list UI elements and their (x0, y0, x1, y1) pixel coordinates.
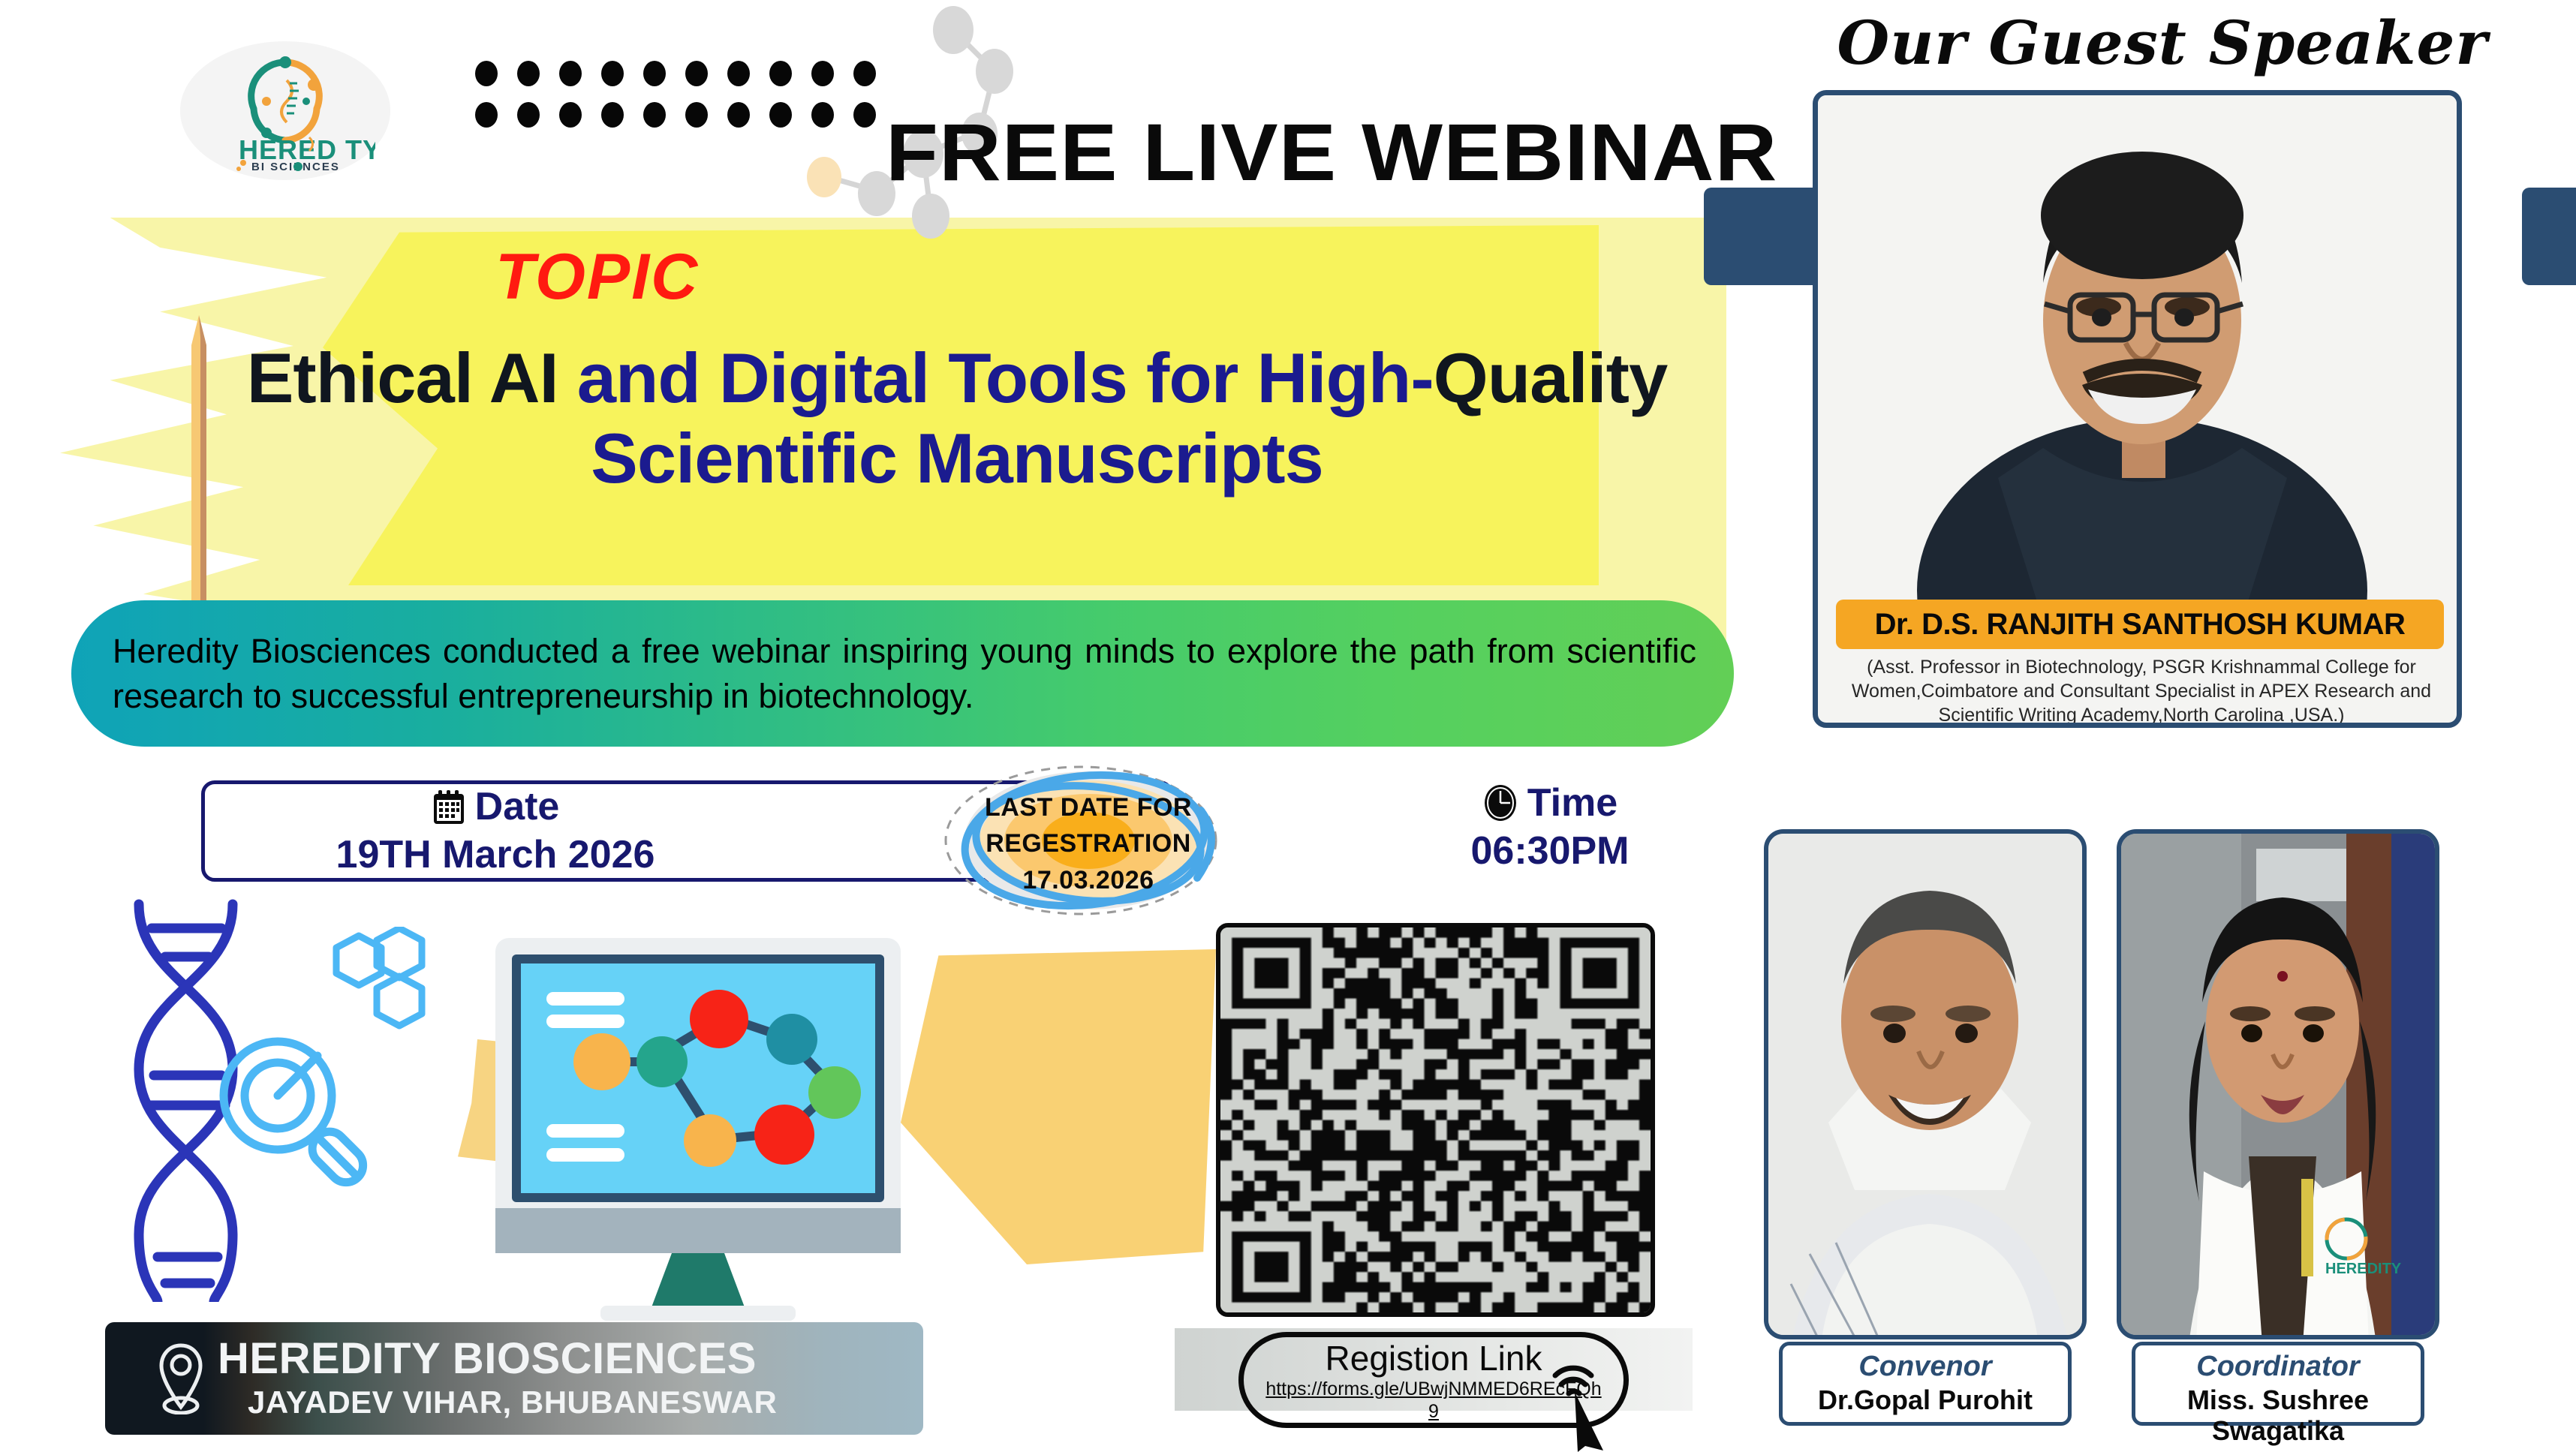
last-date-badge: LAST DATE FOR REGESTRATION 17.03.2026 (848, 765, 1336, 915)
convenor-role-card: Convenor Dr.Gopal Purohit (1779, 1342, 2072, 1426)
last-date-line-3: 17.03.2026 (946, 862, 1231, 898)
title-segment-4: Scientific Manuscripts (591, 419, 1323, 498)
title-segment-2: and Digital Tools for High- (577, 338, 1434, 417)
last-date-text: LAST DATE FOR REGESTRATION 17.03.2026 (946, 789, 1231, 898)
footer-bar: HEREDITY BIOSCIENCES JAYADEV VIHAR, BHUB… (105, 1322, 923, 1435)
decorative-dot-grid (465, 53, 886, 135)
description-text: Heredity Biosciences conducted a free we… (113, 629, 1696, 718)
monitor-network-illustration (488, 923, 908, 1321)
location-pin-icon (158, 1342, 204, 1414)
footer-org-name: HEREDITY BIOSCIENCES (218, 1336, 777, 1381)
speaker-portrait-illustration (1818, 95, 2462, 621)
speaker-photo (1818, 95, 2462, 621)
speaker-credentials: (Asst. Professor in Biotechnology, PSGR … (1837, 655, 2445, 727)
footer-address: JAYADEV VIHAR, BHUBANESWAR (248, 1384, 777, 1420)
title-segment-1: Ethical AI (247, 338, 577, 417)
logo-emblem-icon: HERED TY BI SCIENCES (195, 49, 375, 173)
poster-left-panel: HERED TY BI SCIENCES FREE LIVE WEBINAR (0, 0, 1749, 1442)
footer-text-block: HEREDITY BIOSCIENCES JAYADEV VIHAR, BHUB… (218, 1336, 777, 1421)
magnifier-icon (206, 1024, 379, 1204)
date-label: Date (475, 784, 560, 829)
time-value: 06:30PM (1389, 828, 1711, 873)
time-label: Time (1527, 780, 1618, 825)
last-date-line-1: LAST DATE FOR (946, 789, 1231, 825)
convenor-role-label: Convenor (1783, 1351, 2068, 1383)
convenor-portrait-illustration (1768, 834, 2087, 1339)
date-value: 19TH March 2026 (323, 832, 668, 877)
orange-brush-accent-right (901, 949, 1216, 1264)
qr-code-image[interactable] (1216, 923, 1655, 1317)
webinar-title: Ethical AI and Digital Tools for High-Qu… (203, 338, 1711, 498)
convenor-name: Dr.Gopal Purohit (1783, 1384, 2068, 1415)
description-banner: Heredity Biosciences conducted a free we… (71, 600, 1734, 747)
tap-hand-icon (1539, 1362, 1621, 1452)
topic-label: TOPIC (495, 240, 699, 314)
title-segment-3: Quality (1434, 338, 1668, 417)
clock-icon (1482, 784, 1518, 822)
speaker-name-badge: Dr. D.S. RANJITH SANTHOSH KUMAR (1836, 600, 2444, 649)
guest-speaker-heading: Our Guest Speaker (1749, 8, 2576, 78)
heredity-biosciences-logo: HERED TY BI SCIENCES (180, 41, 390, 180)
poster-right-panel: Our Guest Speaker (1749, 0, 2576, 1442)
convenor-photo-card (1764, 829, 2087, 1339)
coordinator-name: Miss. Sushree Swagatika (2135, 1384, 2421, 1447)
navy-accent-bar-right (2522, 188, 2576, 285)
date-heading: Date (323, 784, 668, 829)
coordinator-photo-card: HEREDITY (2117, 829, 2439, 1339)
speaker-card: Dr. D.S. RANJITH SANTHOSH KUMAR (Asst. P… (1813, 90, 2462, 728)
coordinator-portrait-illustration: HEREDITY (2121, 834, 2439, 1339)
coordinator-role-label: Coordinator (2135, 1351, 2421, 1383)
coordinator-role-card: Coordinator Miss. Sushree Swagatika (2132, 1342, 2424, 1426)
svg-text:HEREDITY: HEREDITY (2325, 1261, 2402, 1277)
last-date-line-2: REGESTRATION (946, 825, 1231, 861)
time-block: Time 06:30PM (1389, 780, 1711, 873)
qr-code-canvas (1220, 927, 1651, 1312)
date-block: Date 19TH March 2026 (323, 784, 668, 877)
page-headline: FREE LIVE WEBINAR (886, 105, 1777, 199)
time-heading: Time (1389, 780, 1711, 825)
calendar-icon (432, 788, 466, 825)
